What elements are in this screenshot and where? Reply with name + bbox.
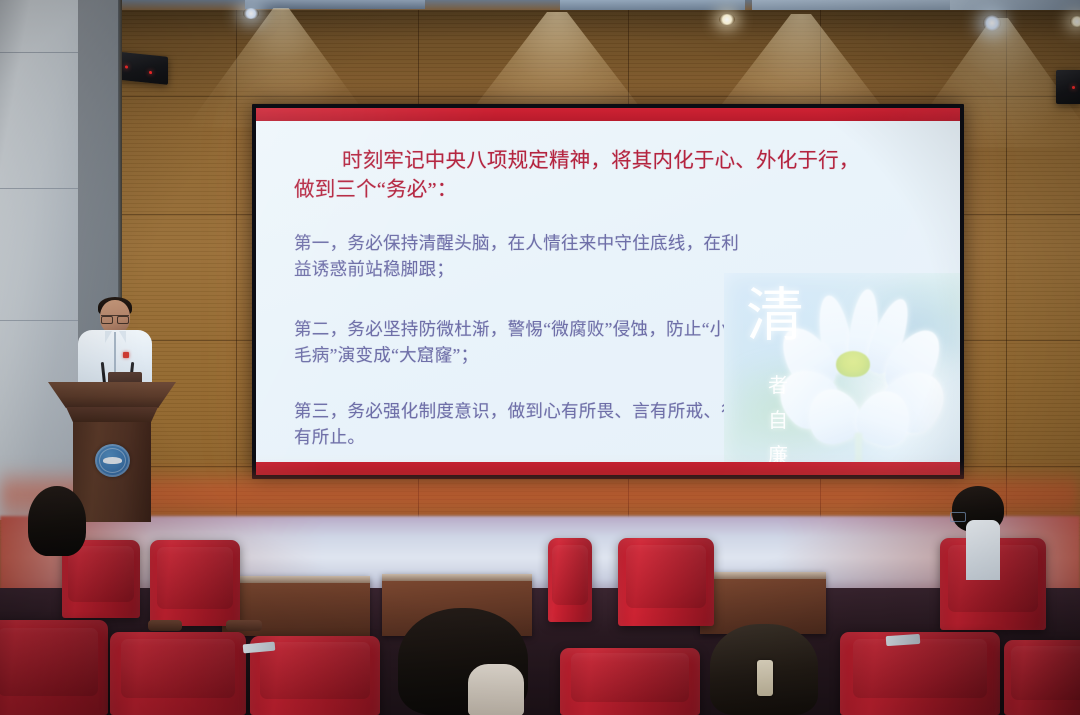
wall-speaker-icon — [1056, 70, 1080, 104]
ceiling-spotlight — [719, 14, 735, 25]
slide-top-accent-bar — [256, 108, 960, 121]
presentation-slide: 时刻牢记中央八项规定精神，将其内化于心、外化于行， 做到三个“务必”： 第一，务… — [256, 108, 960, 475]
lotus-char-2: 自 — [766, 404, 790, 439]
audience-chair — [0, 620, 108, 715]
lotus-image: 清 者 自 廉 — [724, 273, 960, 462]
chair-armrest — [226, 620, 262, 631]
wall-seam — [0, 96, 1080, 97]
slide-body: 时刻牢记中央八项规定精神，将其内化于心、外化于行， 做到三个“务必”： 第一，务… — [256, 121, 960, 462]
audience-chair — [548, 538, 592, 622]
audience-member — [28, 486, 86, 556]
chair-armrest — [148, 620, 182, 631]
lotus-char-1: 者 — [766, 369, 790, 404]
screen-inner: 时刻牢记中央八项规定精神，将其内化于心、外化于行， 做到三个“务必”： 第一，务… — [256, 108, 960, 475]
audience-chair — [110, 632, 246, 715]
audience-chair — [150, 540, 240, 626]
audience-chair — [840, 632, 1000, 715]
slide-title: 时刻牢记中央八项规定精神，将其内化于心、外化于行， 做到三个“务必”： — [294, 147, 934, 205]
lotus-char-3: 廉 — [766, 439, 790, 462]
hair-clip — [757, 660, 773, 696]
slide-title-line-2: 做到三个“务必”： — [294, 179, 458, 201]
lotus-vertical-characters: 者 自 廉 — [766, 369, 790, 462]
auditorium-photo-scene: 时刻牢记中央八项规定精神，将其内化于心、外化于行， 做到三个“务必”： 第一，务… — [0, 0, 1080, 715]
audience-chair — [560, 648, 700, 715]
wall-seam — [236, 10, 237, 540]
lapel-badge — [123, 352, 129, 358]
podium-neck — [66, 407, 158, 423]
projection-screen[interactable]: 时刻牢记中央八项规定精神，将其内化于心、外化于行， 做到三个“务必”： 第一，务… — [252, 104, 964, 479]
ceiling-spotlight — [983, 15, 1001, 31]
glasses-icon — [950, 512, 966, 522]
slide-paragraph-2: 第二，务必坚持防微杜渐，警惕“微腐败”侵蚀，防止“小毛病”演变成“大窟窿”； — [294, 317, 734, 368]
audience-member-shoulder — [468, 664, 524, 715]
ceiling-panel-left — [245, 0, 425, 9]
audience-chair — [1004, 640, 1080, 715]
slide-paragraph-3: 第三，务必强化制度意识，做到心有所畏、言有所戒、行有所止。 — [294, 399, 746, 450]
presenter — [78, 300, 152, 392]
slide-title-line-1: 时刻牢记中央八项规定精神，将其内化于心、外化于行， — [342, 150, 860, 172]
glasses-icon — [101, 315, 129, 322]
audience-member-shirt — [966, 520, 1000, 580]
shirt-collar-left — [105, 331, 112, 343]
lotus-big-character: 清 — [746, 287, 804, 345]
audience-chair — [618, 538, 714, 626]
shirt-collar-right — [119, 331, 126, 343]
podium-top — [48, 382, 176, 408]
ceiling-spotlight — [1070, 16, 1080, 27]
ceiling-spotlight — [243, 8, 259, 19]
university-seal-icon — [95, 444, 130, 477]
wall-seam — [1006, 10, 1007, 540]
slide-paragraph-1: 第一，务必保持清醒头脑，在人情往来中守住底线，在利益诱惑前站稳脚跟； — [294, 231, 746, 282]
